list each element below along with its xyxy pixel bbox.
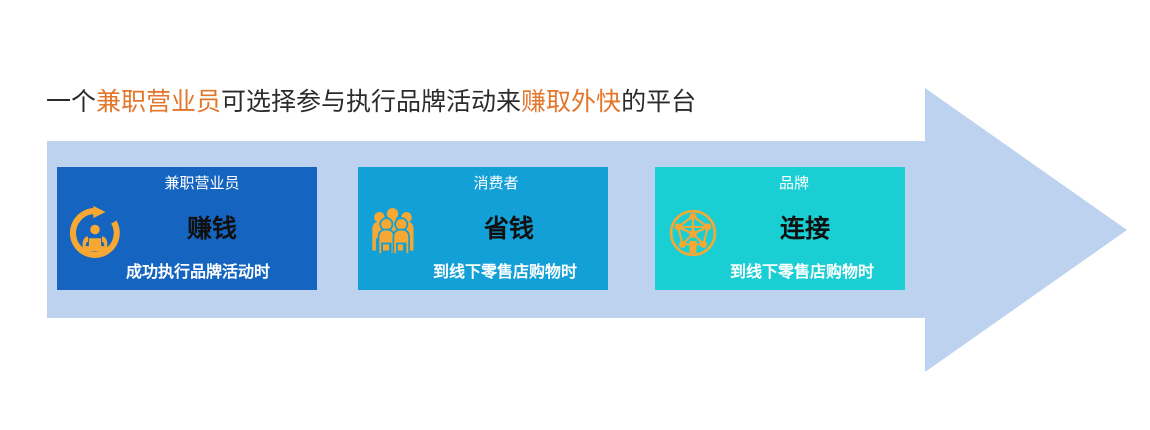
title-segment-4-highlight: 赚取外快 bbox=[521, 88, 621, 116]
card-worker-main: 赚钱 bbox=[57, 213, 317, 245]
card-worker[interactable]: 兼职营业员 赚钱 成功执行品牌活动时 bbox=[57, 167, 317, 290]
title-segment-5: 的平台 bbox=[621, 88, 696, 116]
card-brand-main: 连接 bbox=[655, 213, 905, 245]
card-worker-header: 兼职营业员 bbox=[57, 174, 317, 194]
title-segment-1: 一个 bbox=[46, 88, 96, 116]
card-consumer-header: 消费者 bbox=[358, 174, 608, 194]
title-segment-2-highlight: 兼职营业员 bbox=[96, 88, 221, 116]
card-brand-footer: 到线下零售店购物时 bbox=[655, 262, 905, 284]
card-brand-header: 品牌 bbox=[655, 174, 905, 194]
title-segment-3: 可选择参与执行品牌活动来 bbox=[221, 88, 521, 116]
card-consumer-footer: 到线下零售店购物时 bbox=[358, 262, 608, 284]
card-brand[interactable]: 品牌 连接 到线下零售店购物时 bbox=[655, 167, 905, 290]
card-consumer-main: 省钱 bbox=[358, 213, 608, 245]
page-title: 一个兼职营业员可选择参与执行品牌活动来赚取外快的平台 bbox=[46, 86, 696, 118]
card-worker-footer: 成功执行品牌活动时 bbox=[57, 262, 317, 284]
card-consumer[interactable]: 消费者 省钱 到线下零售店购物时 bbox=[358, 167, 608, 290]
